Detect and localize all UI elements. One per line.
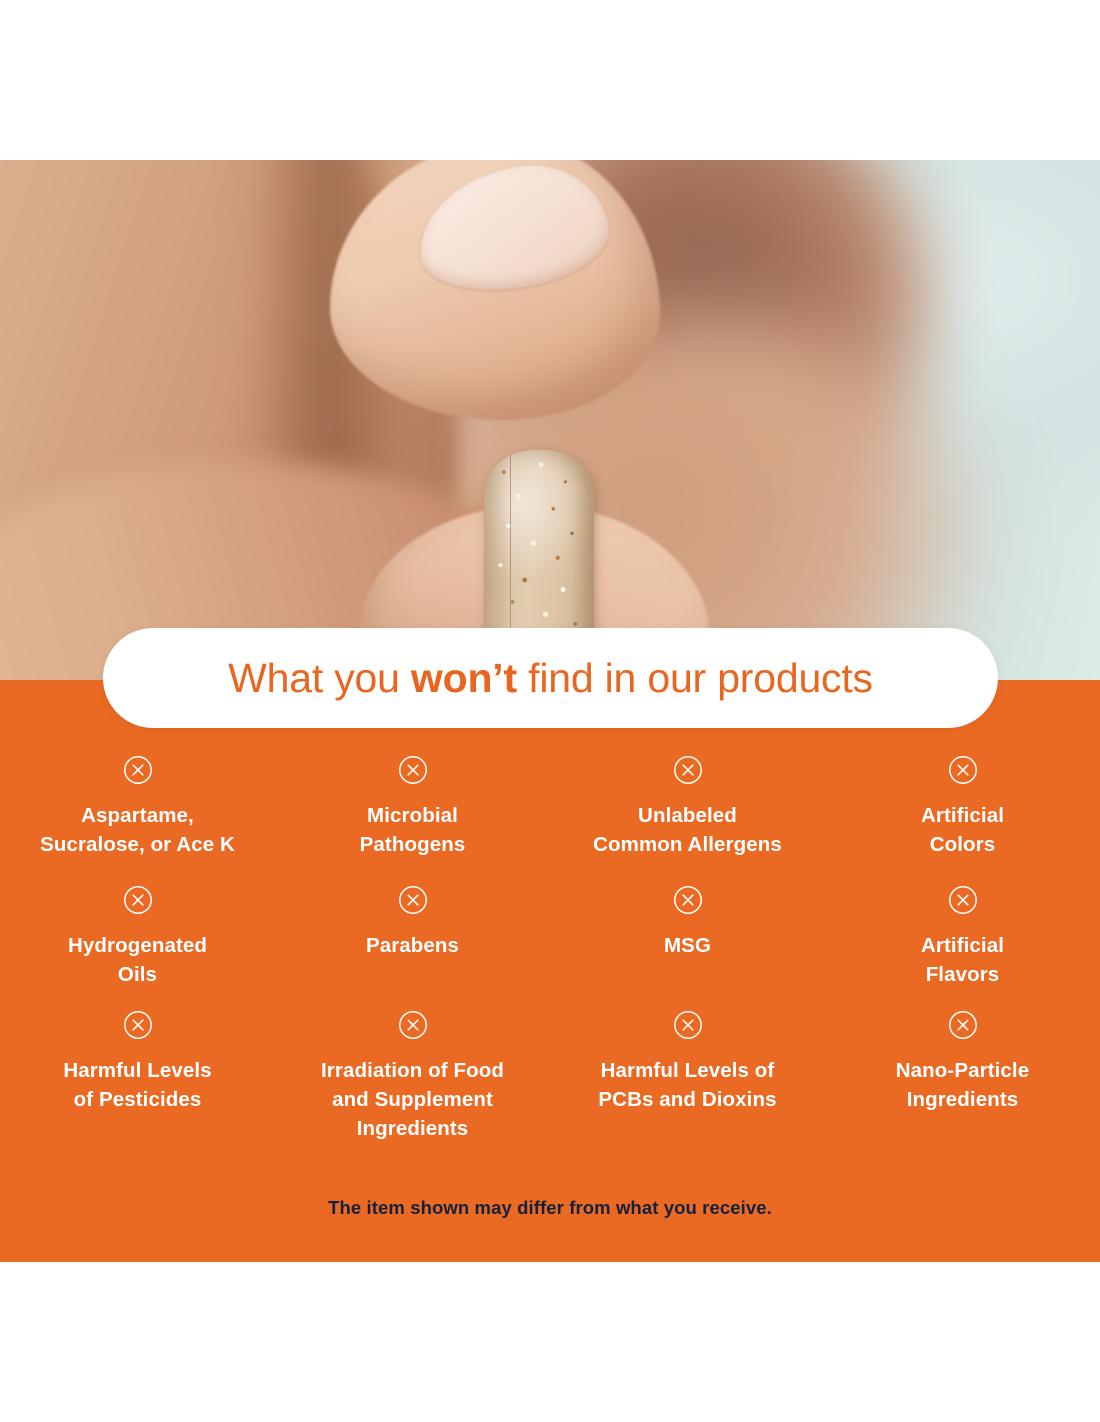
exclusion-item: Unlabeled Common Allergens [550, 755, 825, 885]
exclusion-label: Artificial Flavors [921, 931, 1004, 989]
tablet-in-hand-photo [0, 160, 1100, 690]
exclusion-item: Nano-Particle Ingredients [825, 1010, 1100, 1143]
exclusion-item: Microbial Pathogens [275, 755, 550, 885]
exclusion-label: Irradiation of Food and Supplement Ingre… [321, 1056, 504, 1143]
exclusion-item: Hydrogenated Oils [0, 885, 275, 1010]
exclusion-label: MSG [664, 931, 711, 960]
exclusion-label: Harmful Levels of PCBs and Dioxins [598, 1056, 776, 1114]
page-title: What you won’t find in our products [228, 655, 873, 702]
exclusion-item: Irradiation of Food and Supplement Ingre… [275, 1010, 550, 1143]
circle-x-icon [948, 755, 978, 785]
exclusions-grid: Aspartame, Sucralose, or Ace K Microbial… [0, 755, 1100, 1143]
circle-x-icon [123, 1010, 153, 1040]
exclusion-label: Artificial Colors [921, 801, 1004, 859]
exclusion-item: MSG [550, 885, 825, 1010]
exclusion-item: Aspartame, Sucralose, or Ace K [0, 755, 275, 885]
circle-x-icon [673, 755, 703, 785]
exclusion-item: Harmful Levels of Pesticides [0, 1010, 275, 1143]
exclusion-label: Hydrogenated Oils [68, 931, 207, 989]
exclusion-item: Artificial Flavors [825, 885, 1100, 1010]
page-title-after: find in our products [517, 655, 873, 701]
exclusion-label: Parabens [366, 931, 459, 960]
circle-x-icon [398, 1010, 428, 1040]
exclusion-item: Artificial Colors [825, 755, 1100, 885]
product-claims-infographic: What you won’t find in our products Aspa… [0, 0, 1100, 1422]
circle-x-icon [948, 885, 978, 915]
circle-x-icon [673, 885, 703, 915]
exclusion-item: Harmful Levels of PCBs and Dioxins [550, 1010, 825, 1143]
exclusion-item: Parabens [275, 885, 550, 1010]
page-title-before: What you [228, 655, 411, 701]
circle-x-icon [123, 885, 153, 915]
exclusion-label: Unlabeled Common Allergens [593, 801, 782, 859]
circle-x-icon [948, 1010, 978, 1040]
exclusion-label: Nano-Particle Ingredients [896, 1056, 1029, 1114]
circle-x-icon [673, 1010, 703, 1040]
disclaimer-text: The item shown may differ from what you … [0, 1197, 1100, 1219]
circle-x-icon [398, 755, 428, 785]
exclusion-label: Aspartame, Sucralose, or Ace K [40, 801, 235, 859]
exclusion-label: Microbial Pathogens [360, 801, 466, 859]
circle-x-icon [398, 885, 428, 915]
page-title-emphasis: won’t [411, 655, 517, 701]
exclusion-label: Harmful Levels of Pesticides [63, 1056, 211, 1114]
circle-x-icon [123, 755, 153, 785]
title-card: What you won’t find in our products [103, 628, 998, 728]
